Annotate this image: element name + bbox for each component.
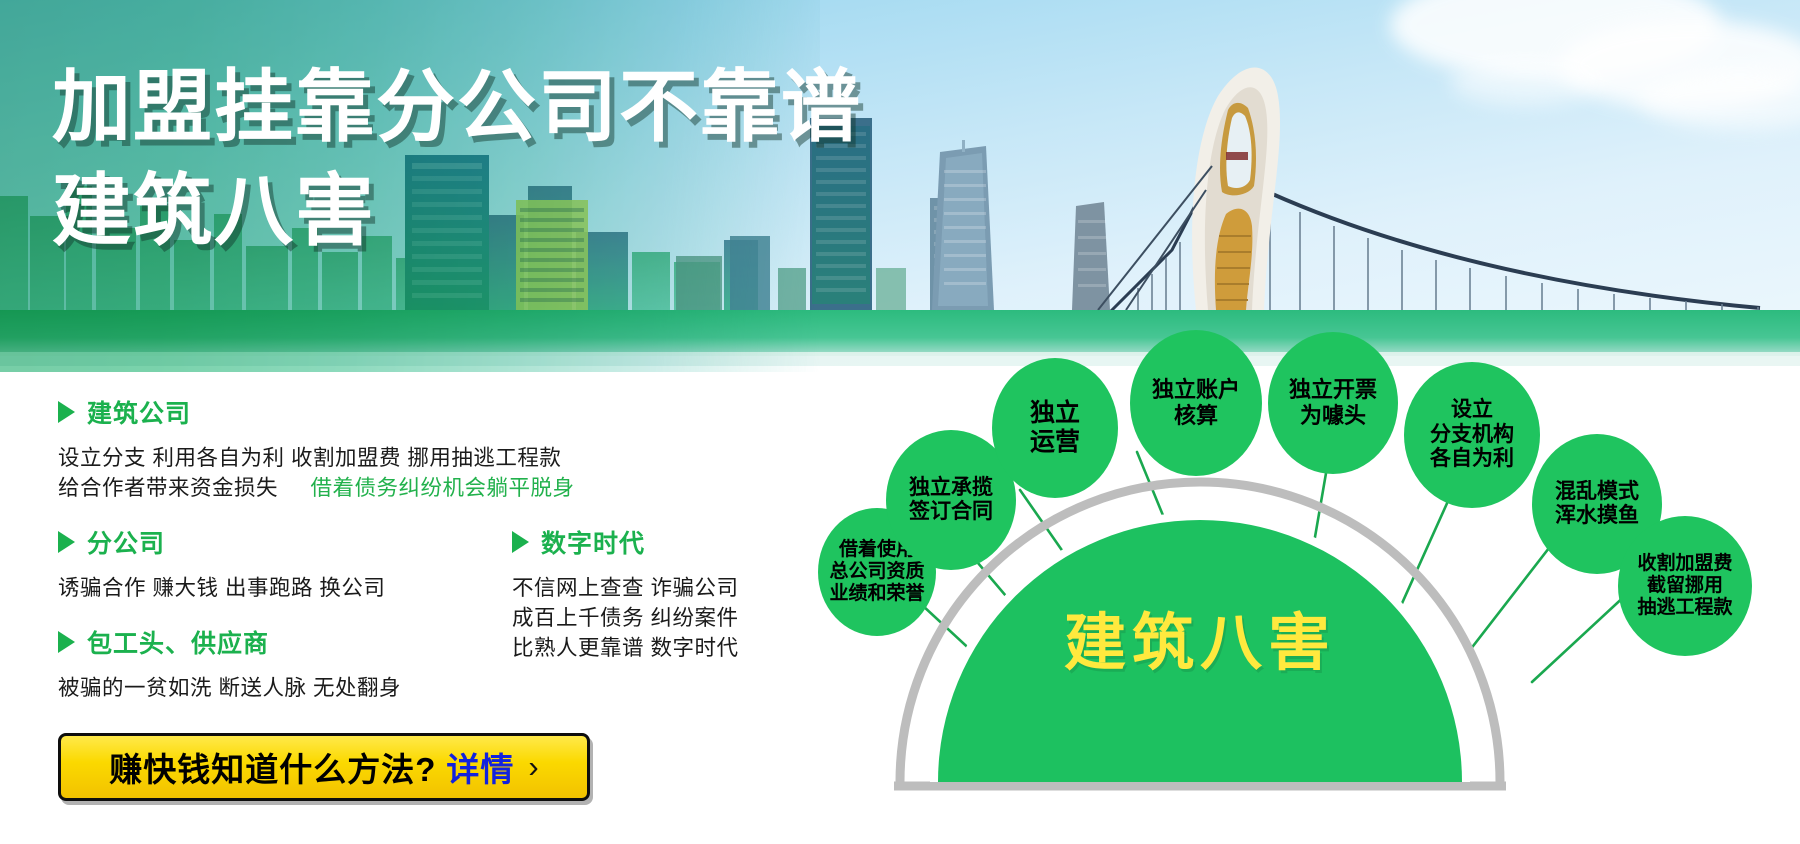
section-title: 包工头、供应商	[87, 624, 269, 660]
section-line-text: 给合作者带来资金损失	[58, 476, 278, 500]
section-title: 建筑公司	[87, 394, 191, 430]
bubble-line: 独立账户	[1152, 377, 1240, 403]
section-line: 被骗的一贫如洗 断送人脉 无处翻身	[58, 673, 401, 703]
section-lines: 被骗的一贫如洗 断送人脉 无处翻身	[58, 673, 401, 703]
bubble-line: 独立	[1030, 399, 1080, 428]
section-line: 成百上千债务 纠纷案件	[512, 603, 738, 633]
hero-title-line1: 加盟挂靠分公司不靠谱	[52, 62, 862, 152]
section-digital-era: 数字时代 不信网上查查 诈骗公司 成百上千债务 纠纷案件 比熟人更靠谱 数字时代	[512, 524, 738, 663]
bubble-line: 混乱模式	[1555, 480, 1639, 504]
bubble-line: 业绩和荣誉	[829, 583, 924, 605]
bubble-line: 设立	[1430, 398, 1514, 422]
section-title: 数字时代	[541, 524, 645, 560]
cta-button[interactable]: 赚快钱知道什么方法? 详情 ›	[58, 733, 590, 801]
bubble-line: 核算	[1152, 403, 1240, 429]
triangle-bullet-icon	[512, 531, 529, 553]
section-header: 数字时代	[512, 524, 738, 560]
cta-link-label[interactable]: 详情	[446, 743, 514, 791]
hero-banner: 加盟挂靠分公司不靠谱 建筑八害	[0, 0, 1800, 372]
bubble-line: 签订合同	[909, 500, 993, 524]
bubble-independent-operation[interactable]: 独立 运营	[992, 358, 1118, 498]
section-header: 分公司	[58, 524, 385, 560]
bubble-independent-invoice[interactable]: 独立开票 为噱头	[1268, 332, 1398, 474]
section-title: 分公司	[87, 524, 165, 560]
bubble-line: 独立承揽	[909, 476, 993, 500]
cta-main-label: 赚快钱知道什么方法?	[109, 743, 436, 791]
hero-title: 加盟挂靠分公司不靠谱 建筑八害	[52, 62, 862, 256]
hero-title-line2: 建筑八害	[52, 166, 862, 256]
section-lines: 设立分支 利用各自为利 收割加盟费 挪用抽逃工程款 给合作者带来资金损失 借着债…	[58, 443, 575, 503]
section-contractor-supplier: 包工头、供应商 被骗的一贫如洗 断送人脉 无处翻身	[58, 624, 401, 703]
section-header: 包工头、供应商	[58, 624, 401, 660]
section-line: 诱骗合作 赚大钱 出事跑路 换公司	[58, 573, 385, 603]
dome-center-label: 建筑八害	[990, 592, 1410, 682]
section-line: 给合作者带来资金损失 借着债务纠纷机会躺平脱身	[58, 473, 575, 503]
bubble-line: 总公司资质	[829, 561, 924, 583]
triangle-bullet-icon	[58, 631, 75, 653]
section-line: 比熟人更靠谱 数字时代	[512, 633, 738, 663]
triangle-bullet-icon	[58, 401, 75, 423]
section-line-accent: 借着债务纠纷机会躺平脱身	[311, 476, 575, 500]
bubble-independent-account[interactable]: 独立账户 核算	[1130, 330, 1262, 476]
bubble-line: 收割加盟费	[1637, 553, 1732, 575]
section-lines: 诱骗合作 赚大钱 出事跑路 换公司	[58, 573, 385, 603]
chevron-right-icon: ›	[528, 749, 538, 785]
bubble-line: 抽逃工程款	[1637, 597, 1732, 619]
bubble-line: 各自为利	[1430, 447, 1514, 471]
section-header: 建筑公司	[58, 394, 575, 430]
section-line: 不信网上查查 诈骗公司	[512, 573, 738, 603]
bubble-line: 为噱头	[1289, 403, 1377, 429]
section-branch-company: 分公司 诱骗合作 赚大钱 出事跑路 换公司	[58, 524, 385, 603]
eight-harms-diagram: 建筑八害 借着使用 总公司资质 业绩和荣誉 独立承揽 签订合同 独立 运营 独立…	[790, 330, 1800, 844]
bubble-line: 运营	[1030, 428, 1080, 457]
section-construction-company: 建筑公司 设立分支 利用各自为利 收割加盟费 挪用抽逃工程款 给合作者带来资金损…	[58, 394, 575, 503]
poster-root: 加盟挂靠分公司不靠谱 建筑八害 建筑公司 设立分支 利用各自为利 收割加盟费 挪…	[0, 0, 1800, 844]
bridge-illustration	[1098, 67, 1760, 312]
bubble-line: 浑水摸鱼	[1555, 504, 1639, 528]
bubble-branch-setup[interactable]: 设立 分支机构 各自为利	[1404, 362, 1540, 508]
bubble-line: 独立开票	[1289, 377, 1377, 403]
section-lines: 不信网上查查 诈骗公司 成百上千债务 纠纷案件 比熟人更靠谱 数字时代	[512, 573, 738, 663]
bubble-line: 截留挪用	[1637, 575, 1732, 597]
triangle-bullet-icon	[58, 531, 75, 553]
bubble-harvest-fees[interactable]: 收割加盟费 截留挪用 抽逃工程款	[1618, 516, 1752, 656]
section-line: 设立分支 利用各自为利 收割加盟费 挪用抽逃工程款	[58, 443, 575, 473]
bubble-line: 分支机构	[1430, 423, 1514, 447]
